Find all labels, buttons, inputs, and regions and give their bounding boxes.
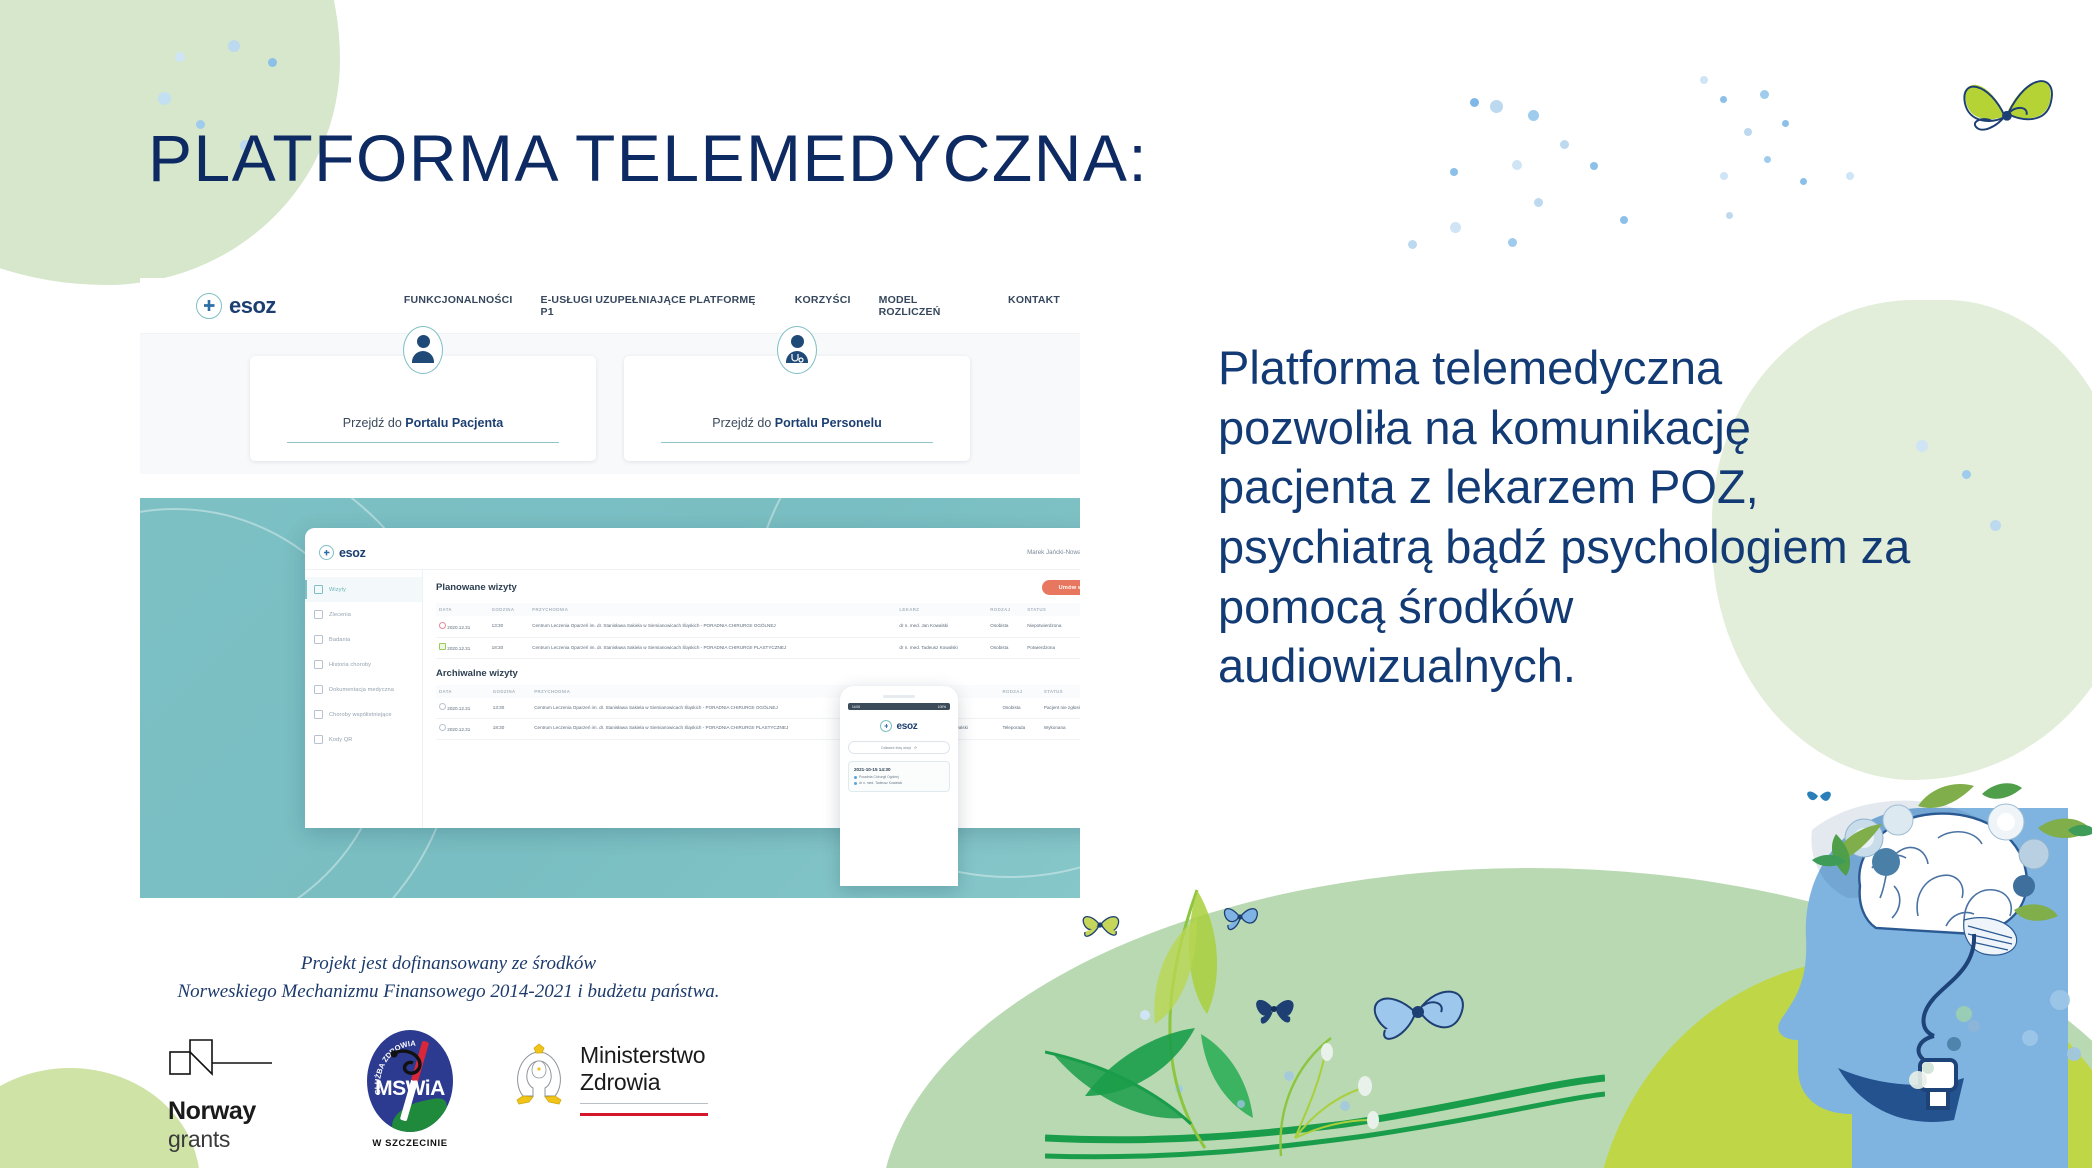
decor-dot-29 [1962,470,1971,479]
sidebar-item-6[interactable]: Kody QR [305,727,422,752]
table-cell: 18:30 [490,718,531,739]
table-cell: Potwierdzona [1024,637,1080,659]
medical-cross-icon [880,720,892,732]
decor-dot-12 [1590,162,1598,170]
portal-label-patient: Przejdź do Portalu Pacjenta [343,416,503,430]
table-cell: Teleporada [999,718,1040,739]
phone-status-bar: 14:06 100% [848,703,950,710]
menu-item-kontakt[interactable]: KONTAKT [1008,294,1060,318]
refresh-icon: ⟳ [914,746,917,750]
sidebar-icon [314,710,323,719]
decor-dot-21 [1744,128,1752,136]
decor-dot-10 [1560,140,1569,149]
portal-underline [287,442,559,443]
decor-dot-6 [1450,168,1458,176]
description-paragraph: Platforma telemedyczna pozwoliła na komu… [1218,338,1918,696]
mswia-logo: SŁUŻBA ZDROWIA MSWiA W SZCZECINIE [350,1030,470,1149]
decor-dot-27 [1846,172,1854,180]
norway-grants-sub: grants [168,1126,298,1153]
ministry-red-bar [580,1113,708,1116]
decor-dot-22 [1782,120,1789,127]
table-cell: 13:30 [489,616,530,637]
table-cell: Centrum Leczenia Oparzeń im. dr. Stanisł… [529,637,896,659]
decor-dot-0 [228,40,240,52]
phone-visit-doctor: dr n. med. Tadeusz Kowalski [859,781,902,785]
portal-prefix: Przejdź do [712,416,775,430]
phone-visit-date: 2021-10-15 14:30 [854,767,944,772]
column-header: LEKARZ [896,603,987,616]
decor-dot-3 [158,92,171,105]
portal-strong: Portalu Personelu [775,416,882,430]
column-header: STATUS [1024,603,1080,616]
slide-root: PLATFORMA TELEMEDYCZNA: esoz FUNKCJONALN… [0,0,2092,1168]
butterfly-icon-top [1946,62,2064,148]
sidebar-item-label: Wizyty [329,587,346,593]
ministry-name-line1: Ministerstwo [580,1042,708,1069]
decor-dot-16 [1620,216,1628,224]
portal-label-staff: Przejdź do Portalu Personelu [712,416,882,430]
location-icon [854,776,857,779]
decor-dot-14 [1450,222,1461,233]
column-header: STATUS [1041,685,1080,698]
table-cell: Niepotwierdzona [1024,616,1080,637]
logo-row: Norway grants SŁUŻBA ZDROWIA MSWiA W SZC… [160,1030,720,1160]
funding-line-1: Projekt jest dofinansowany ze środków [176,950,721,978]
sidebar-icon [314,635,323,644]
mswia-emblem-icon: SŁUŻBA ZDROWIA MSWiA [367,1030,453,1132]
decor-dot-23 [1720,172,1728,180]
refresh-label: Odśwież listę wizyt [881,746,911,750]
dashboard-sidebar: WizytyZleceniaBadaniaHistoria chorobyDok… [305,570,423,828]
column-header: RODZAJ [987,603,1024,616]
user-menu[interactable]: Marek Jańcki-Nowak ▾ [1027,546,1080,559]
column-header: DATA [436,603,489,616]
medical-cross-icon [196,293,222,319]
menu-item-korzysci[interactable]: KORZYŚCI [795,294,851,318]
table-cell: Osobista [987,616,1024,637]
decor-dot-13 [1534,198,1543,207]
phone-logo-text: esoz [896,721,917,732]
decor-dot-7 [1490,100,1503,113]
table-row[interactable]: 2020.12.3118:30Centrum Leczenia Oparzeń … [436,718,1080,739]
table-cell: Centrum Leczenia Oparzeń im. dr. Stanisł… [529,616,896,637]
table-row[interactable]: 2020.12.3113:30Centrum Leczenia Oparzeń … [436,616,1080,637]
column-header: DATA [436,685,490,698]
sidebar-item-label: Historia choroby [329,662,371,668]
sidebar-item-0[interactable]: Wizyty [305,577,422,602]
sidebar-item-label: Kody QR [329,737,352,743]
funding-line-2: Norweskiego Mechanizmu Finansowego 2014-… [176,978,721,1006]
sidebar-item-2[interactable]: Badania [305,627,422,652]
table-cell: 2020.12.31 [436,616,489,637]
phone-mockup: 14:06 100% esoz Odśwież listę wizyt ⟳ 20… [840,686,958,886]
dashboard-logo-text: esoz [339,546,366,560]
polish-eagle-icon [510,1042,568,1106]
sidebar-item-label: Zlecenia [329,612,351,618]
column-header: GODZINA [490,685,531,698]
table-cell: 2020.12.31 [436,718,490,739]
sidebar-icon [314,585,323,594]
norway-grants-name: Norway [168,1097,298,1126]
menu-item-euslugi[interactable]: E-USŁUGI UZUPEŁNIAJĄCE PLATFORMĘ P1 [541,294,767,318]
mswia-caption: W SZCZECINIE [350,1138,470,1149]
sidebar-item-label: Choroby współistniejące [329,712,392,718]
sidebar-item-label: Badania [329,637,350,643]
portal-card-patient[interactable]: Przejdź do Portalu Pacjenta [250,356,596,461]
dashboard-content: Planowane wizyty Umów wizytę DATAGODZINA… [423,570,1080,828]
menu-item-model-rozliczen[interactable]: MODEL ROZLICZEŃ [879,294,980,318]
phone-speaker [883,695,915,698]
decor-dot-11 [1512,160,1522,170]
decor-dot-24 [1764,156,1771,163]
phone-clock: 14:06 [852,705,860,709]
decor-dot-9 [1528,110,1539,121]
portal-card-staff[interactable]: Przejdź do Portalu Personelu [624,356,970,461]
table-cell: 18:30 [489,637,530,659]
sidebar-item-4[interactable]: Dokumentacja medyczna [305,677,422,702]
doctor-avatar-icon [777,326,817,374]
menu-item-funkcjonalnosci[interactable]: FUNKCJONALNOŚCI [404,294,513,318]
patient-avatar-icon [403,326,443,374]
teal-showcase-panel: esoz Marek Jańcki-Nowak ▾ WizytyZlecenia… [140,498,1080,898]
decor-dot-15 [1508,238,1517,247]
floral-decoration [1045,838,1605,1168]
medical-cross-icon [319,545,334,560]
website-menu: FUNKCJONALNOŚCI E-USŁUGI UZUPEŁNIAJĄCE P… [404,294,1060,318]
sidebar-icon [314,610,323,619]
table-row[interactable]: 2020.12.3113:30Centrum Leczenia Oparzeń … [436,698,1080,718]
norway-grants-logo: Norway grants [168,1036,298,1153]
user-name: Marek Jańcki-Nowak [1027,549,1080,556]
head-brain-illustration [1768,768,2092,1168]
archive-visits-table: DATAGODZINAPRZYCHODNIALEKARZRODZAJSTATUS… [436,685,1080,739]
status-icon [439,703,446,710]
sidebar-icon [314,685,323,694]
phone-visit-card[interactable]: 2021-10-15 14:30 Poradnia Chirurgii Ogól… [848,761,950,792]
funding-note: Projekt jest dofinansowany ze środków No… [176,950,721,1005]
table-cell: 13:30 [490,698,531,718]
sidebar-icon [314,660,323,669]
decor-dot-1 [268,58,277,67]
decor-dot-2 [175,52,185,62]
ministry-divider [580,1103,708,1104]
table-cell: Osobista [999,698,1040,718]
dashboard-logo[interactable]: esoz [319,545,366,560]
decor-dot-26 [1800,178,1807,185]
dashboard-window: esoz Marek Jańcki-Nowak ▾ WizytyZlecenia… [305,528,1080,828]
section-title-archive: Archiwalne wizyty [436,668,1080,679]
sidebar-item-5[interactable]: Choroby współistniejące [305,702,422,727]
ministry-of-health-logo: Ministerstwo Zdrowia [510,1042,725,1116]
portal-prefix: Przejdź do [343,416,406,430]
table-cell: 2020.12.31 [436,698,490,718]
doctor-icon [854,782,857,785]
table-cell: Osobista [987,637,1024,659]
refresh-visits-button[interactable]: Odśwież listę wizyt ⟳ [848,741,950,754]
column-header: PRZYCHODNIA [529,603,896,616]
column-header: GODZINA [489,603,530,616]
sidebar-item-1[interactable]: Zlecenia [305,602,422,627]
status-icon [439,724,446,731]
esoz-logo[interactable]: esoz [196,293,276,319]
portal-strong: Portalu Pacjenta [405,416,503,430]
section-title-planned: Planowane wizyty [436,582,517,593]
portal-underline [661,442,933,443]
website-navbar: esoz FUNKCJONALNOŚCI E-USŁUGI UZUPEŁNIAJ… [140,278,1080,334]
portal-cards-area: Przejdź do Portalu Pacjenta Przejdź do P… [140,334,1080,474]
decor-dot-25 [1726,212,1733,219]
decor-dot-20 [1760,90,1769,99]
ministry-name-line2: Zdrowia [580,1069,708,1096]
page-title: PLATFORMA TELEMEDYCZNA: [148,120,1148,196]
table-cell: Pacjent nie zgłosił się [1041,698,1080,718]
status-icon [439,622,446,629]
sidebar-icon [314,735,323,744]
phone-visit-clinic: Poradnia Chirurgii Ogólnej [859,775,899,779]
phone-logo: esoz [848,720,950,732]
dashboard-header: esoz Marek Jańcki-Nowak ▾ [305,536,1080,570]
decor-dot-17 [1408,240,1417,249]
table-cell: 2020.12.31 [436,637,489,659]
table-cell: Wykonana [1041,718,1080,739]
table-row[interactable]: 2020.12.3118:30Centrum Leczenia Oparzeń … [436,637,1080,659]
table-cell: dr n. med. Tadeusz Kowalski [896,637,987,659]
make-appointment-button[interactable]: Umów wizytę [1042,580,1080,595]
phone-battery: 100% [938,705,946,709]
decor-dot-19 [1720,96,1727,103]
decor-dot-18 [1700,76,1708,84]
decor-dot-30 [1990,520,2001,531]
norway-grants-mark-icon [168,1036,276,1086]
status-icon [439,643,446,650]
sidebar-item-3[interactable]: Historia choroby [305,652,422,677]
table-cell: dr n. med. Jan Kowalski [896,616,987,637]
decor-dot-8 [1470,98,1479,107]
sidebar-item-label: Dokumentacja medyczna [329,687,394,693]
esoz-logo-text: esoz [229,293,276,319]
planned-visits-table: DATAGODZINAPRZYCHODNIALEKARZRODZAJSTATUS… [436,603,1080,659]
mswia-text: MSWiA [367,1077,453,1101]
column-header: RODZAJ [999,685,1040,698]
